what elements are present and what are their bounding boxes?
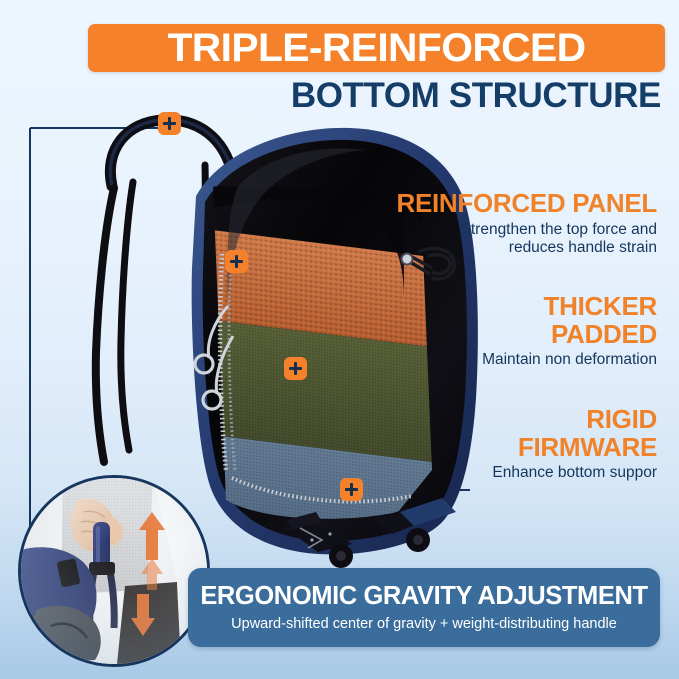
inset-photo-hand-holding-handle — [18, 475, 210, 667]
bag-feet — [286, 498, 456, 568]
bottom-banner-subtitle: Upward-shifted center of gravity + weigh… — [231, 617, 617, 632]
zipper-track — [220, 254, 235, 470]
annotation-description: Enhance bottom suppor — [357, 464, 657, 483]
marker-reinforced-panel-plus-icon — [225, 250, 248, 273]
bottom-banner-title: ERGONOMIC GRAVITY ADJUSTMENT — [200, 584, 647, 610]
annotation-description: Strengthen the top force and reduces han… — [357, 221, 657, 259]
marker-handle-plus-icon — [158, 112, 181, 135]
zipper-pulls — [195, 306, 233, 409]
marker-thicker-padded-plus-icon — [284, 357, 307, 380]
bag-handles — [96, 120, 232, 462]
base-stitching — [300, 528, 332, 548]
annotation-reinforced-panel: REINFORCED PANEL Strengthen the top forc… — [357, 190, 657, 258]
annotation-rigid-firmware: RIGID FIRMWARE Enhance bottom suppor — [357, 406, 657, 483]
header-banner: TRIPLE-REINFORCED — [88, 24, 665, 72]
marker-rigid-firmware-plus-icon — [340, 478, 363, 501]
body-highlight — [227, 148, 366, 300]
annotation-title: REINFORCED PANEL — [357, 190, 657, 218]
bottom-banner: ERGONOMIC GRAVITY ADJUSTMENT Upward-shif… — [188, 568, 660, 647]
annotation-title: THICKER PADDED — [357, 293, 657, 348]
header-banner-title: TRIPLE-REINFORCED — [82, 24, 671, 72]
infographic-poster: TRIPLE-REINFORCED BOTTOM STRUCTURE REINF… — [0, 0, 679, 679]
header-subtitle: BOTTOM STRUCTURE — [0, 78, 661, 115]
annotation-description: Maintain non deformation — [357, 351, 657, 370]
annotation-thicker-padded: THICKER PADDED Maintain non deformation — [357, 293, 657, 370]
annotation-title: RIGID FIRMWARE — [357, 406, 657, 461]
